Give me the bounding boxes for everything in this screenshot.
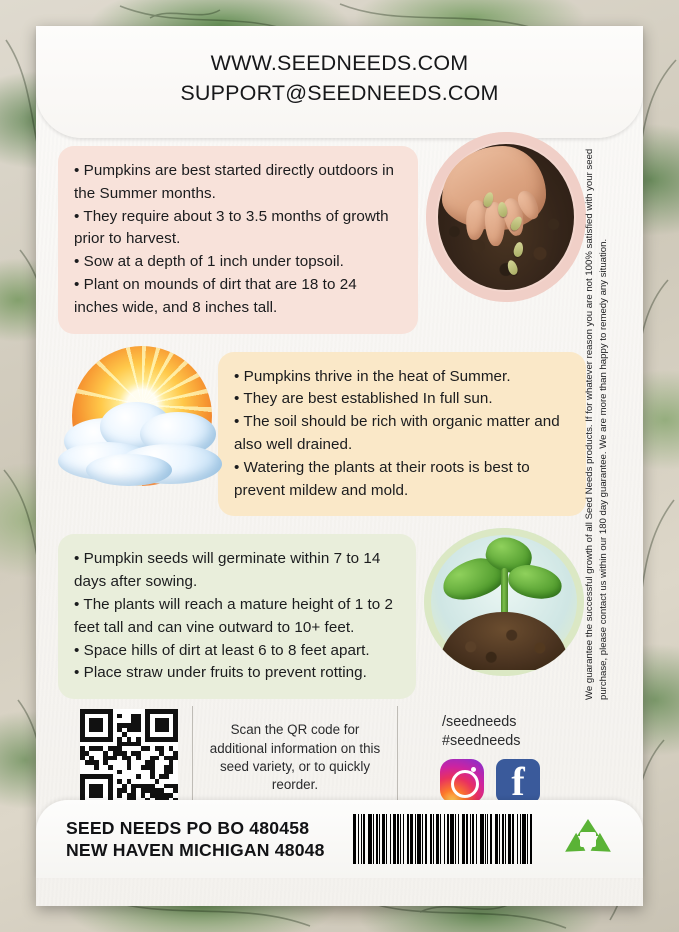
barcode-bar (410, 814, 413, 864)
seedling-in-soil-illustration (424, 528, 584, 676)
planting-bullet-3: • Sow at a depth of 1 inch under topsoil… (74, 251, 400, 274)
seed-packet: WWW.SEEDNEEDS.COM SUPPORT@SEEDNEEDS.COM … (36, 26, 643, 906)
barcode-bar (520, 814, 521, 864)
barcode (353, 814, 534, 864)
recycle-arrow (565, 833, 591, 861)
hand-sowing-seeds-photo (426, 132, 586, 302)
instructions-area: • Pumpkins are best started directly out… (58, 146, 586, 699)
social-section: /seedneeds #seedneeds (438, 713, 588, 803)
barcode-bar (361, 814, 362, 864)
barcode-bar (512, 814, 514, 864)
hashtag-handle: #seedneeds (442, 732, 588, 751)
barcode-bar (490, 814, 492, 864)
barcode-bar (499, 814, 500, 864)
growth-bullet-4: • Place straw under fruits to prevent ro… (74, 662, 398, 685)
barcode-bar (502, 814, 504, 864)
barcode-bar (444, 814, 445, 864)
barcode-bar (522, 814, 526, 864)
guarantee-text: We guarantee the successful growth of al… (583, 148, 611, 700)
recycle-arrow (577, 819, 599, 836)
barcode-bar (417, 814, 421, 864)
planting-bullet-2: • They require about 3 to 3.5 months of … (74, 206, 400, 252)
barcode-bar (462, 814, 465, 864)
recycle-arrow (585, 833, 611, 861)
pumpkin-seed (506, 259, 519, 276)
divider (397, 706, 398, 810)
conditions-bullet-1: • Pumpkins thrive in the heat of Summer. (234, 366, 568, 389)
growth-bullet-3: • Space hills of dirt at least 6 to 8 fe… (74, 640, 398, 663)
conditions-block: • Pumpkins thrive in the heat of Summer.… (58, 352, 586, 517)
barcode-bar (458, 814, 459, 864)
planting-bullet-4: • Plant on mounds of dirt that are 18 to… (74, 274, 400, 320)
barcode-bar (530, 814, 532, 864)
barcode-bar (440, 814, 441, 864)
envelope-flap: WWW.SEEDNEEDS.COM SUPPORT@SEEDNEEDS.COM (36, 26, 643, 138)
sun-and-clouds-illustration (58, 346, 226, 496)
barcode-bar (472, 814, 474, 864)
barcode-bar (508, 814, 511, 864)
cloud-puff (86, 454, 172, 486)
barcode-bar (393, 814, 396, 864)
barcode-bar (455, 814, 456, 864)
barcode-bar (450, 814, 454, 864)
barcode-bar (353, 814, 356, 864)
seedling-leaf (506, 562, 565, 603)
barcode-bar (433, 814, 434, 864)
barcode-bar (382, 814, 385, 864)
facebook-icon[interactable] (496, 759, 540, 803)
barcode-bar (397, 814, 399, 864)
support-email: SUPPORT@SEEDNEEDS.COM (36, 78, 643, 108)
conditions-bullet-2: • They are best established In full sun. (234, 388, 568, 411)
scan-instructions: Scan the QR code for additional informat… (207, 721, 383, 795)
barcode-bar (527, 814, 528, 864)
growth-panel: • Pumpkin seeds will germinate within 7 … (58, 534, 416, 699)
conditions-bullet-4: • Watering the plants at their roots is … (234, 457, 568, 503)
barcode-bar (368, 814, 372, 864)
planting-bullet-1: • Pumpkins are best started directly out… (74, 160, 400, 206)
address-barcode-bar: SEED NEEDS PO BO 480458 NEW HAVEN MICHIG… (36, 800, 643, 878)
barcode-bar (376, 814, 378, 864)
barcode-bar (517, 814, 518, 864)
guarantee-strip: We guarantee the successful growth of al… (581, 144, 637, 704)
barcode-bar (400, 814, 401, 864)
social-handles: /seedneeds #seedneeds (438, 713, 588, 751)
conditions-panel: • Pumpkins thrive in the heat of Summer.… (218, 352, 586, 517)
barcode-bar (430, 814, 432, 864)
website-url: WWW.SEEDNEEDS.COM (36, 48, 643, 78)
soil-texture (438, 144, 574, 290)
planting-block: • Pumpkins are best started directly out… (58, 146, 586, 334)
conditions-bullet-3: • The soil should be rich with organic m… (234, 411, 568, 457)
barcode-bar (476, 814, 477, 864)
address-line-2: NEW HAVEN MICHIGAN 48048 (66, 839, 325, 861)
contact-urls: WWW.SEEDNEEDS.COM SUPPORT@SEEDNEEDS.COM (36, 48, 643, 108)
growth-block: • Pumpkin seeds will germinate within 7 … (58, 534, 586, 699)
barcode-bar (379, 814, 380, 864)
barcode-bar (505, 814, 506, 864)
barcode-bar (407, 814, 409, 864)
barcode-bar (487, 814, 488, 864)
barcode-bar (363, 814, 365, 864)
barcode-bar (415, 814, 416, 864)
barcode-bar (466, 814, 468, 864)
recycle-symbol (567, 819, 609, 859)
barcode-bar (436, 814, 439, 864)
barcode-bar (390, 814, 391, 864)
barcode-bar (495, 814, 498, 864)
divider (192, 706, 193, 810)
return-address: SEED NEEDS PO BO 480458 NEW HAVEN MICHIG… (66, 817, 325, 861)
barcode-bar (447, 814, 449, 864)
growth-bullet-1: • Pumpkin seeds will germinate within 7 … (74, 548, 398, 594)
instagram-icon[interactable] (440, 759, 484, 803)
barcode-bar (425, 814, 427, 864)
address-line-1: SEED NEEDS PO BO 480458 (66, 817, 325, 839)
barcode-bar (358, 814, 359, 864)
barcode-bar (386, 814, 387, 864)
instagram-handle: /seedneeds (442, 713, 588, 732)
barcode-bar (480, 814, 484, 864)
barcode-bar (373, 814, 374, 864)
growth-bullet-2: • The plants will reach a mature height … (74, 594, 398, 640)
pumpkin-seed (513, 241, 525, 258)
soil-mound (440, 612, 568, 670)
barcode-bar (485, 814, 486, 864)
barcode-bar (403, 814, 404, 864)
social-icons (438, 759, 588, 803)
qr-code[interactable] (80, 709, 178, 807)
barcode-bar (422, 814, 423, 864)
barcode-bar (470, 814, 471, 864)
planting-panel: • Pumpkins are best started directly out… (58, 146, 418, 334)
